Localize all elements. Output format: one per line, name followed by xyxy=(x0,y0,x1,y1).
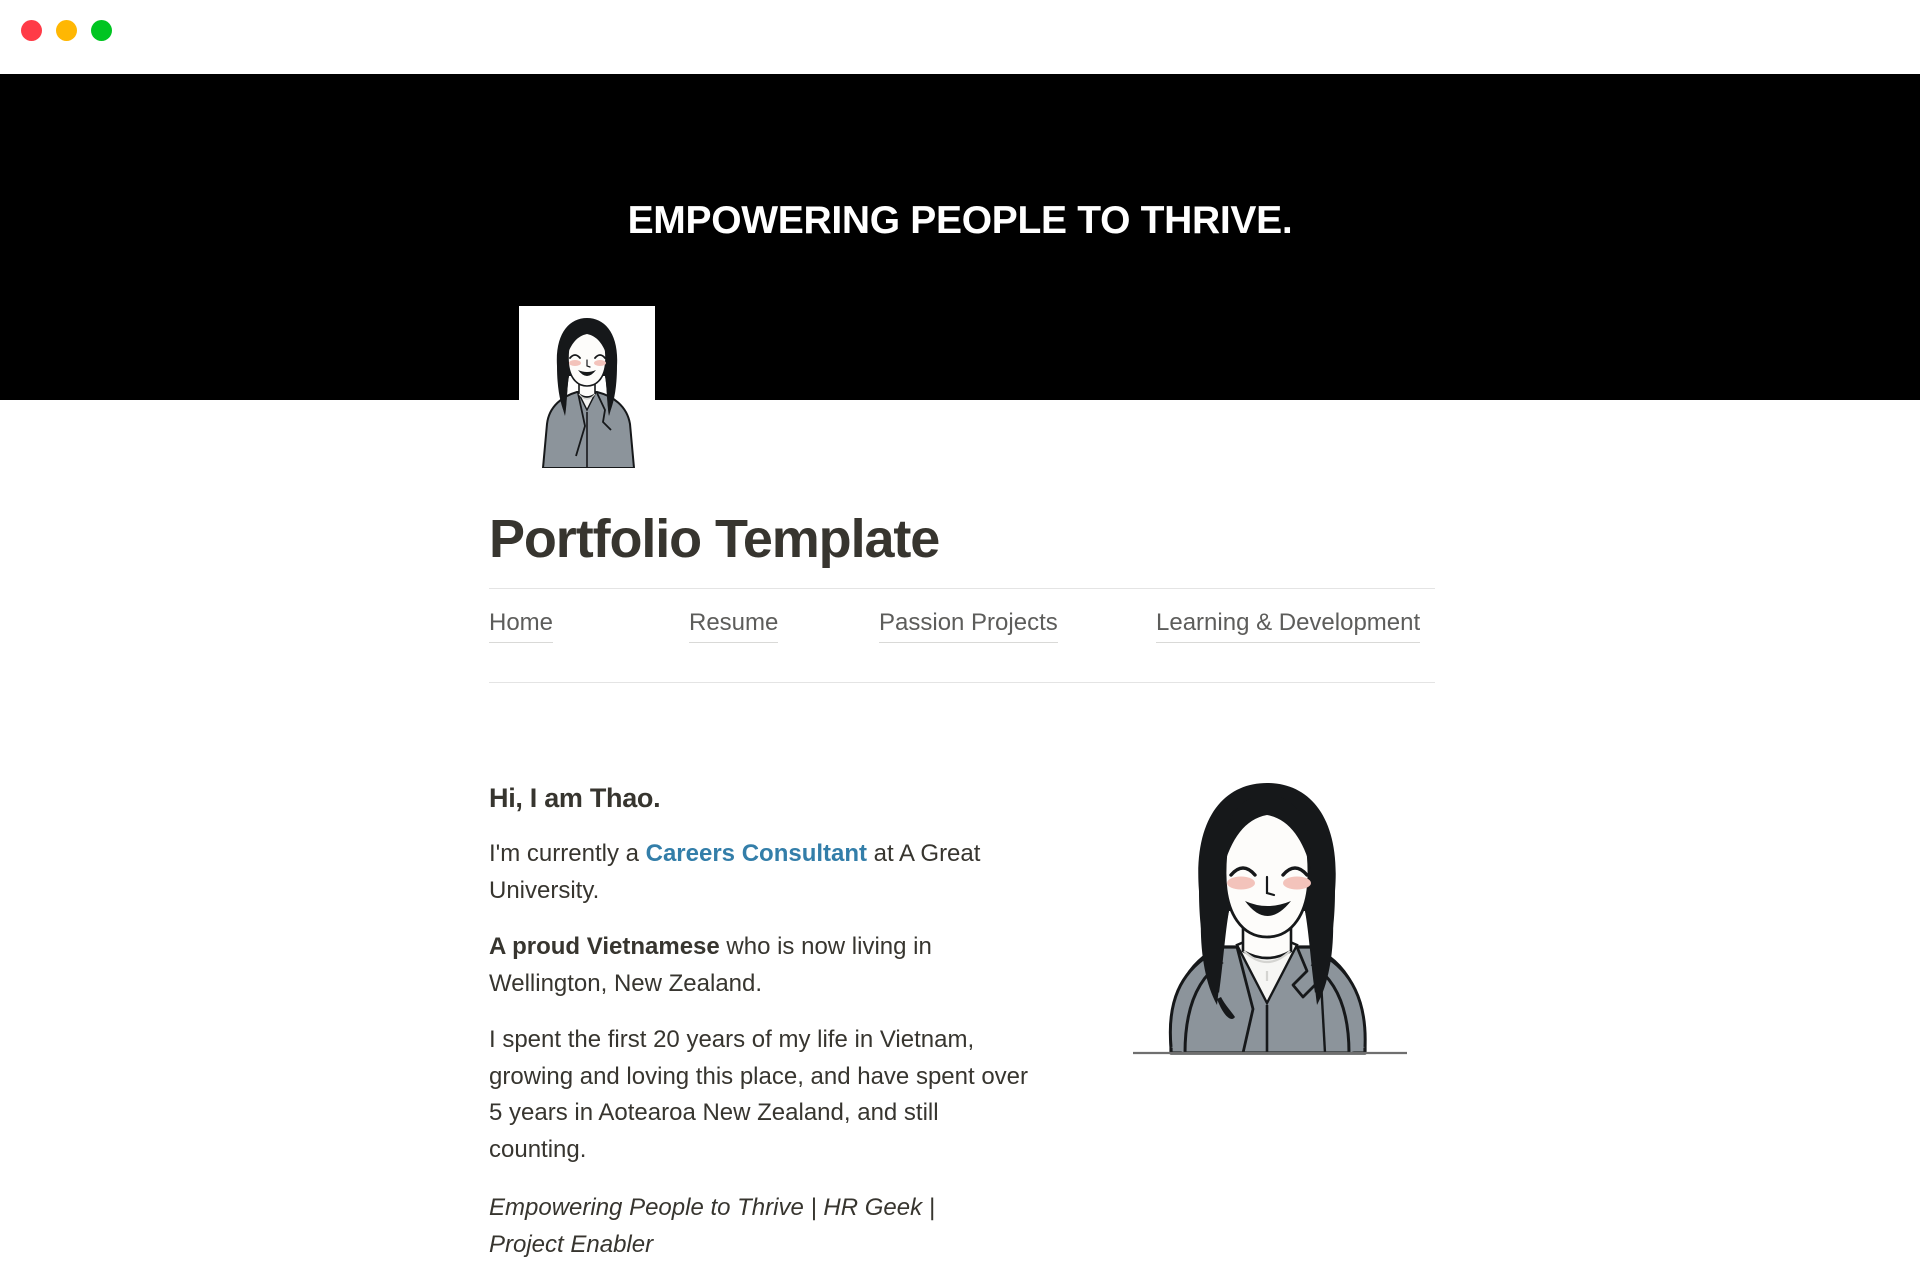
intro-paragraph-role: I'm currently a Careers Consultant at A … xyxy=(489,836,1029,909)
nav-item-home[interactable]: Home xyxy=(489,606,553,643)
intro-role-prefix: I'm currently a xyxy=(489,840,646,867)
nav-item-learning-development[interactable]: Learning & Development xyxy=(1156,606,1420,643)
close-window-button[interactable] xyxy=(21,20,42,41)
intro-paragraph-story: I spent the first 20 years of my life in… xyxy=(489,1022,1041,1168)
page-body: Portfolio Template Home Resume Passion P… xyxy=(0,400,1920,1200)
hero-banner: EMPOWERING PEOPLE TO THRIVE. xyxy=(0,74,1920,400)
intro-origin-bold: A proud Vietnamese xyxy=(489,933,720,960)
divider-above-nav xyxy=(489,588,1435,589)
avatar-illustration xyxy=(519,306,655,468)
intro-section: Hi, I am Thao. I'm currently a Careers C… xyxy=(489,780,1049,1263)
intro-tagline: Empowering People to Thrive | HR Geek | … xyxy=(489,1190,989,1263)
minimize-window-button[interactable] xyxy=(56,20,77,41)
nav-item-passion-projects[interactable]: Passion Projects xyxy=(879,606,1058,643)
maximize-window-button[interactable] xyxy=(91,20,112,41)
intro-paragraph-origin: A proud Vietnamese who is now living in … xyxy=(489,929,1029,1002)
intro-heading: Hi, I am Thao. xyxy=(489,780,1049,816)
portrait-illustration xyxy=(1125,765,1415,1065)
traffic-light-group xyxy=(21,20,112,41)
page-title: Portfolio Template xyxy=(489,510,939,569)
browser-window-chrome xyxy=(0,0,1920,74)
careers-consultant-link[interactable]: Careers Consultant xyxy=(646,840,867,867)
nav-item-resume[interactable]: Resume xyxy=(689,606,778,643)
divider-below-nav xyxy=(489,682,1435,683)
main-navigation: Home Resume Passion Projects Learning & … xyxy=(489,606,1435,650)
hero-tagline: EMPOWERING PEOPLE TO THRIVE. xyxy=(0,199,1920,243)
